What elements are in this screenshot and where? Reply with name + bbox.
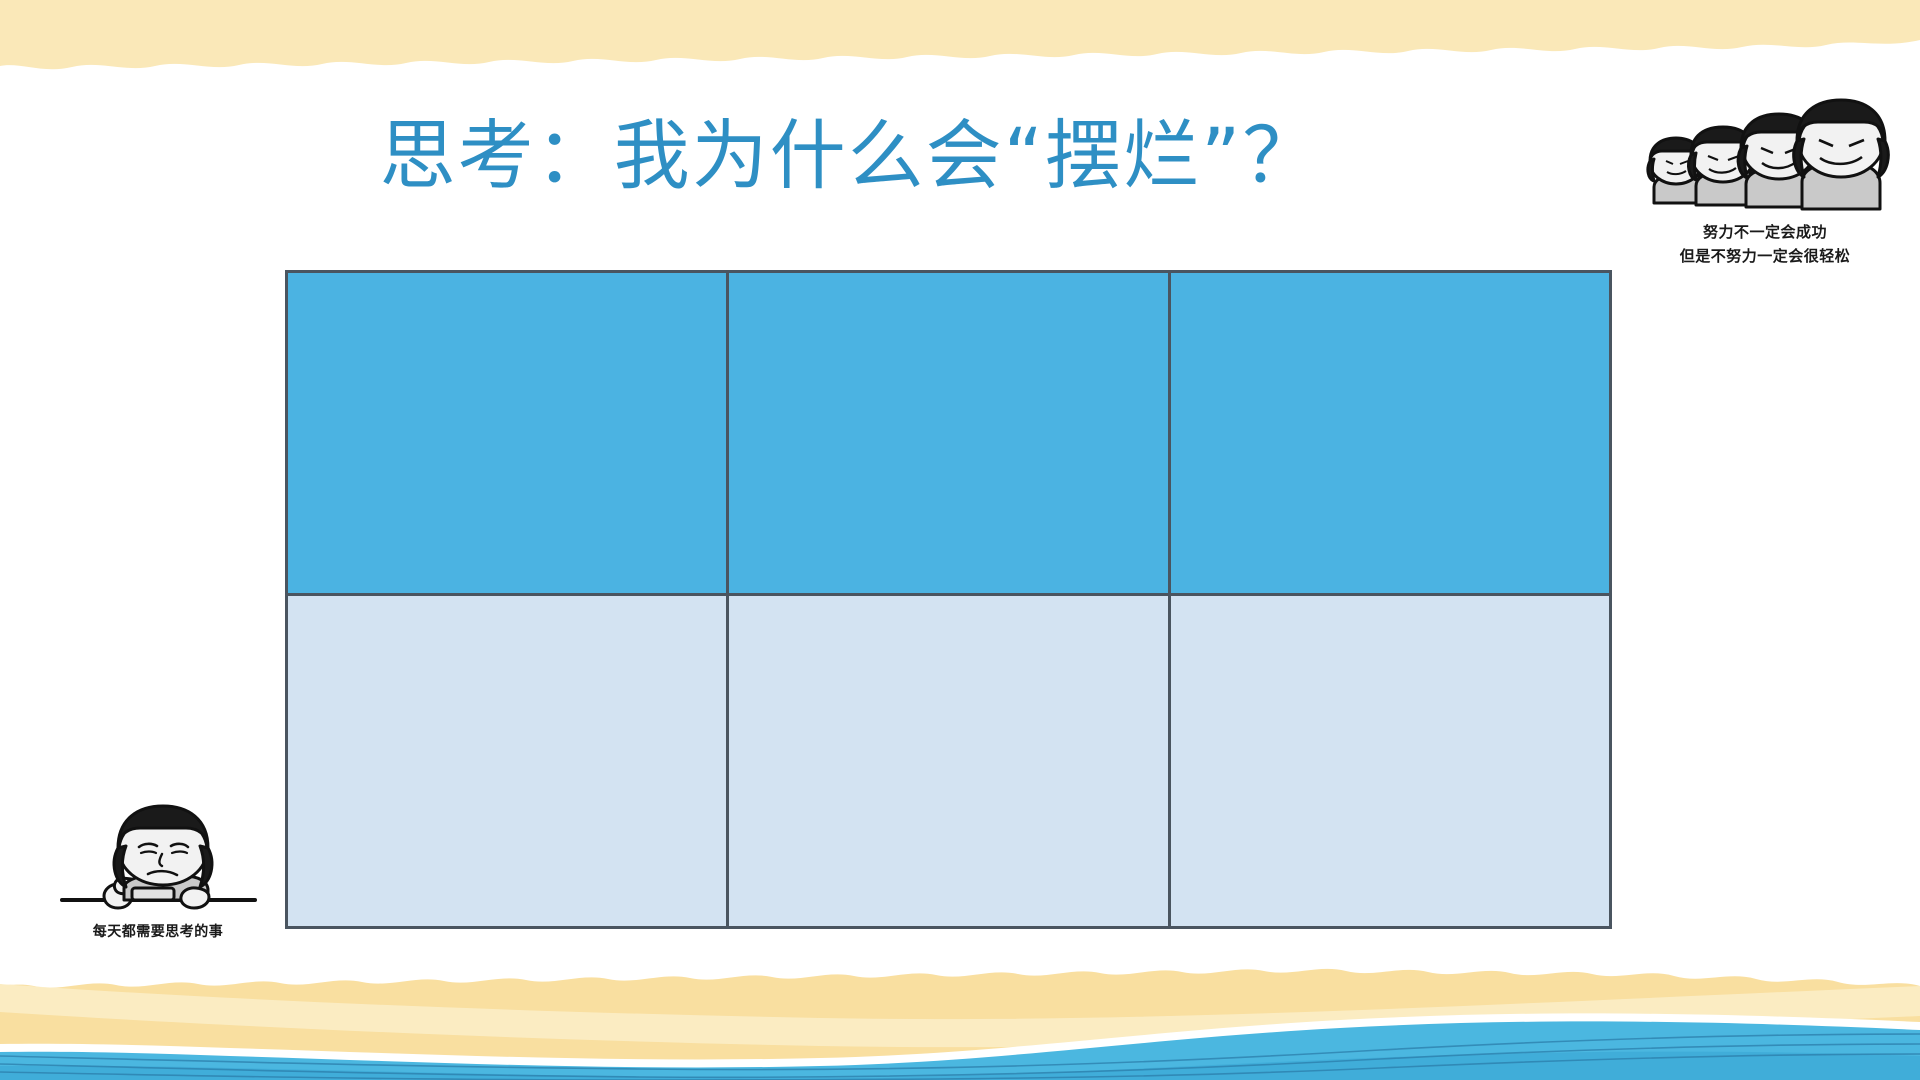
table-cell-header-1[interactable] [287,272,728,595]
table-cell-header-1-text [288,273,726,302]
thinking-head-meme-icon [56,800,261,920]
table-row-header [287,272,1611,595]
sand-highlight-shape [0,984,1920,1047]
table-cell-header-3-text [1171,273,1609,302]
sand-shape [0,969,1920,1080]
meme-top-right-caption-line2: 但是不努力一定会很轻松 [1640,246,1890,268]
wave-current-lines [0,1034,1920,1080]
four-stacked-heads-meme-icon [1640,95,1890,220]
table-cell-header-3[interactable] [1169,272,1610,595]
table-cell-body-2[interactable] [728,595,1169,928]
meme-bottom-left: 每天都需要思考的事 [48,800,268,942]
meme-bottom-left-caption: 每天都需要思考的事 [48,922,268,942]
table-row-body [287,595,1611,928]
meme-top-right: 努力不一定会成功 但是不努力一定会很轻松 [1640,95,1890,268]
wave-foam-shape [0,1013,1920,1080]
table-cell-body-1[interactable] [287,595,728,928]
bottom-decorative-band [0,960,1920,1080]
torn-paper-shape [0,0,1920,69]
table-cell-body-3[interactable] [1169,595,1610,928]
table-cell-body-1-text [288,596,726,625]
wave-shape [0,1021,1920,1080]
top-decorative-band [0,0,1920,70]
table-cell-body-3-text [1171,596,1609,625]
wave-deep-shape [0,1052,1920,1080]
table-cell-header-2[interactable] [728,272,1169,595]
meme-top-right-caption-line1: 努力不一定会成功 [1640,222,1890,244]
page-title: 思考：我为什么会“摆烂”？ [0,118,1700,194]
content-table [285,270,1612,929]
table-cell-body-2-text [729,596,1167,625]
table-cell-header-2-text [729,273,1167,302]
